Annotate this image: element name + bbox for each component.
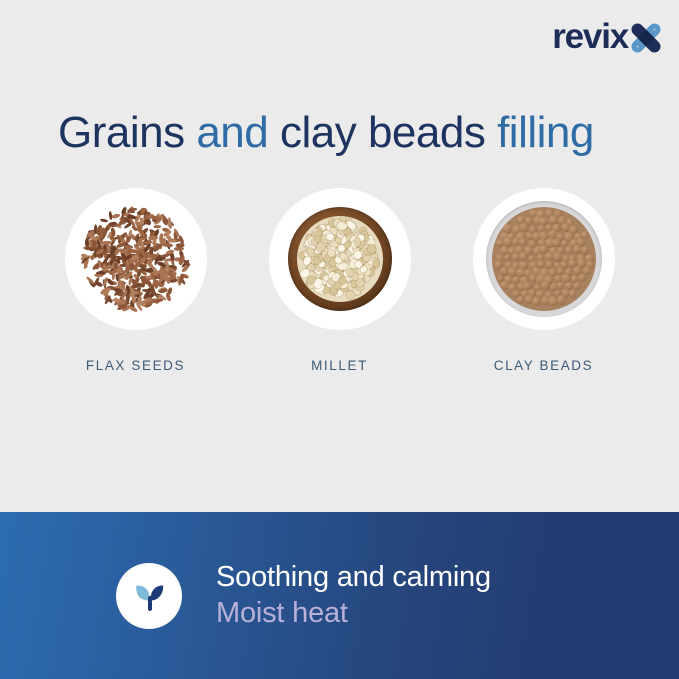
- product-label-millet: MILLET: [311, 358, 368, 373]
- sprout-leaf-icon: [116, 563, 182, 629]
- product-item-millet: MILLET: [269, 188, 411, 373]
- product-label-flax-seeds: FLAX SEEDS: [86, 358, 185, 373]
- benefit-banner: Soothing and calming Moist heat: [0, 512, 679, 679]
- benefit-primary-text: Soothing and calming: [216, 560, 491, 595]
- millet-in-wooden-bowl-photo: [269, 188, 411, 330]
- brand-logo: revix: [552, 14, 663, 58]
- product-ingredient-list: FLAX SEEDS MILLET CLAY BEADS: [0, 188, 679, 373]
- benefit-secondary-text: Moist heat: [216, 596, 491, 631]
- flax-seed-pile: [84, 207, 188, 311]
- clay-bead-fill: [492, 207, 596, 311]
- brand-wordmark: revix: [552, 19, 628, 54]
- product-item-clay-beads: CLAY BEADS: [473, 188, 615, 373]
- headline-word-3: clay beads: [280, 108, 485, 157]
- wooden-bowl: [288, 207, 392, 311]
- headline-word-1: Grains: [58, 108, 185, 157]
- headline-word-4: filling: [497, 108, 594, 157]
- page-headline: Grains and clay beads filling: [58, 109, 639, 157]
- bead-dish: [486, 201, 602, 317]
- crossed-bandage-x-icon: [629, 21, 663, 55]
- flax-seeds-photo: [65, 188, 207, 330]
- product-label-clay-beads: CLAY BEADS: [494, 358, 594, 373]
- clay-beads-in-dish-photo: [473, 188, 615, 330]
- product-item-flax-seeds: FLAX SEEDS: [65, 188, 207, 373]
- benefit-text-block: Soothing and calming Moist heat: [216, 560, 491, 631]
- millet-grain-fill: [297, 216, 383, 302]
- headline-word-2: and: [196, 108, 268, 157]
